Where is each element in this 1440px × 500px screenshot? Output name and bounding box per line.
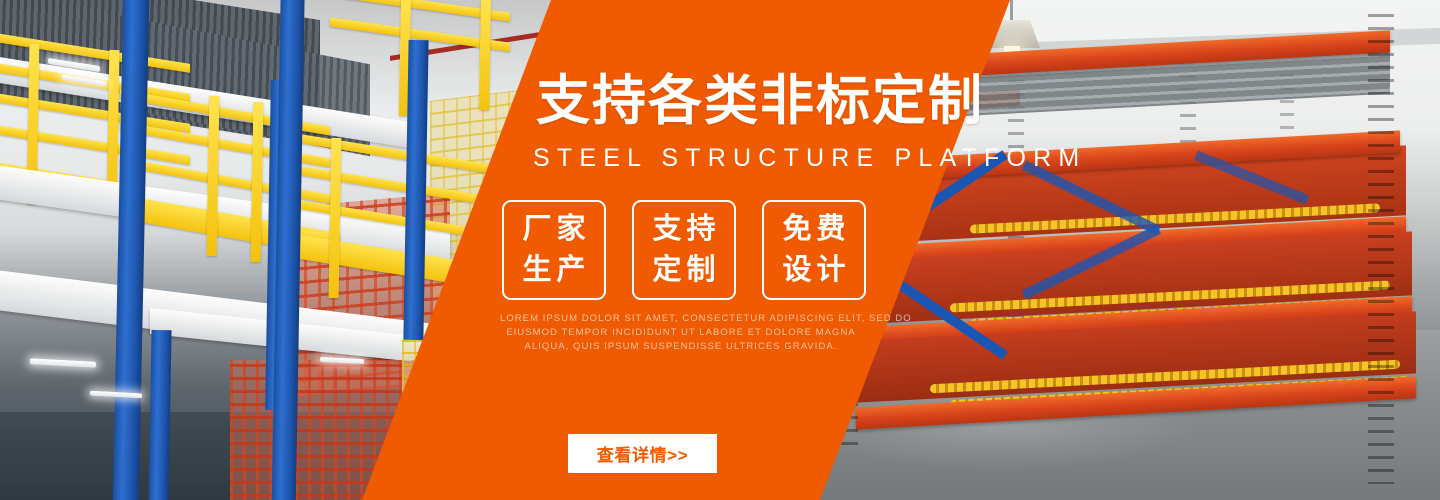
badge-line-1: 厂家 <box>517 209 590 250</box>
feature-badge-manufacturing[interactable]: 厂家 生产 <box>502 200 606 300</box>
badge-line-1: 免费 <box>777 209 850 250</box>
feature-badge-customization[interactable]: 支持 定制 <box>632 200 736 300</box>
badge-line-1: 支持 <box>647 209 720 250</box>
description-text: LOREM IPSUM DOLOR SIT AMET, CONSECTETUR … <box>500 312 862 354</box>
view-details-button[interactable]: 查看详情>> <box>568 434 717 473</box>
feature-badge-free-design[interactable]: 免费 设计 <box>762 200 866 300</box>
description-line-1: LOREM IPSUM DOLOR SIT AMET, CONSECTETUR … <box>500 312 862 326</box>
feature-badge-group: 厂家 生产 支持 定制 免费 设计 <box>502 200 866 300</box>
badge-line-2: 设计 <box>777 250 850 291</box>
headline: 支持各类非标定制 <box>536 72 984 130</box>
badge-line-2: 定制 <box>647 250 720 291</box>
description-line-3: ALIQUA, QUIS IPSUM SUSPENDISSE ULTRICES … <box>500 340 862 354</box>
subtitle: STEEL STRUCTURE PLATFORM <box>533 144 1086 173</box>
description-line-2: EIUSMOD TEMPOR INCIDIDUNT UT LABORE ET D… <box>500 326 862 340</box>
view-details-label: 查看详情>> <box>597 441 688 466</box>
badge-line-2: 生产 <box>517 250 590 291</box>
promo-banner: 支持各类非标定制 STEEL STRUCTURE PLATFORM 厂家 生产 … <box>0 0 1440 500</box>
banner-content: 支持各类非标定制 STEEL STRUCTURE PLATFORM 厂家 生产 … <box>0 0 1440 500</box>
